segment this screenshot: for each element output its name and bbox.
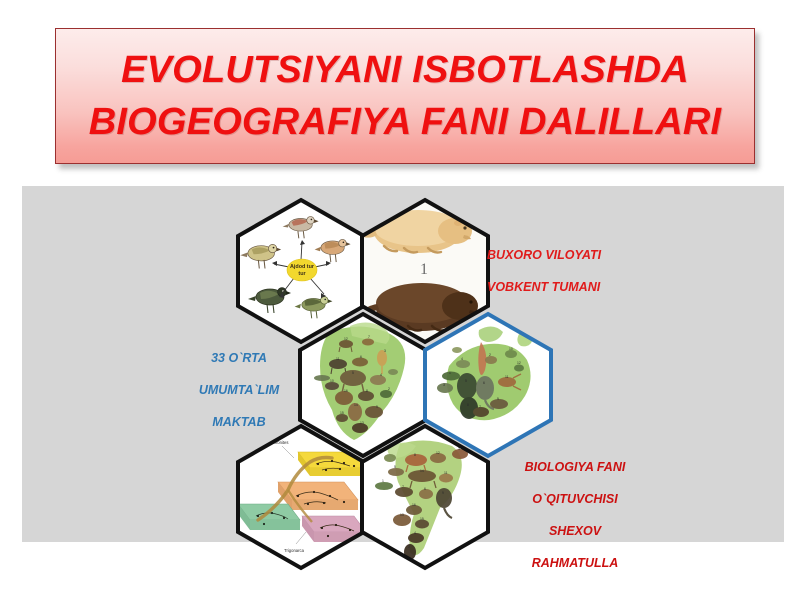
svg-text:8: 8 — [467, 403, 469, 407]
svg-text:2: 2 — [489, 353, 491, 357]
label-region-line1: BUXORO VILOYATI — [487, 247, 601, 263]
label-teacher-line3: SHEXOV — [495, 523, 655, 539]
svg-text:13: 13 — [400, 513, 404, 517]
svg-text:12: 12 — [436, 451, 440, 455]
south-america-map-illustration: 81214 5117 6916 13154 213 — [360, 424, 490, 570]
svg-text:3: 3 — [384, 349, 386, 353]
slide-title-banner: EVOLUTSIYANI ISBOTLASHDA BIOGEOGRAFIYA F… — [55, 28, 755, 164]
strata-label-bottom: Trigonarca — [284, 548, 305, 553]
svg-text:12: 12 — [517, 361, 521, 365]
svg-text:11: 11 — [444, 471, 448, 475]
ancestor-label-line2: tur — [298, 271, 306, 277]
svg-text:5: 5 — [352, 371, 354, 375]
svg-text:8: 8 — [366, 389, 368, 393]
label-teacher-line1: BIOLOGIYA FANI — [495, 459, 655, 475]
svg-text:7: 7 — [479, 405, 481, 409]
svg-text:11: 11 — [505, 375, 509, 379]
svg-text:9: 9 — [376, 405, 378, 409]
label-school-line1: 33 O`RTA — [168, 350, 310, 366]
svg-text:8: 8 — [414, 453, 416, 457]
svg-text:15: 15 — [340, 411, 344, 415]
svg-text:11: 11 — [336, 357, 340, 361]
label-school-line3: MAKTAB — [168, 414, 310, 430]
ancestor-badge — [287, 259, 317, 281]
svg-text:4: 4 — [461, 357, 463, 361]
svg-text:1: 1 — [382, 479, 384, 483]
svg-text:16: 16 — [412, 503, 416, 507]
label-teacher-line4: RAHMATULLA — [495, 555, 655, 571]
svg-text:1: 1 — [449, 371, 451, 375]
svg-text:2: 2 — [388, 387, 390, 391]
title-line-2: BIOGEOGRAFIYA FANI DALILLARI — [89, 96, 722, 148]
hexagon-south-america-fauna: 81214 5117 6916 13154 213 — [360, 424, 490, 570]
ancestor-label-line1: Ajdod tur — [290, 264, 315, 270]
svg-text:14: 14 — [420, 469, 424, 473]
svg-text:5: 5 — [394, 465, 396, 469]
svg-text:7: 7 — [402, 485, 404, 489]
svg-text:7: 7 — [368, 335, 370, 339]
label-teacher-line2: O`QITUVCHISI — [495, 491, 655, 507]
svg-text:6: 6 — [360, 355, 362, 359]
svg-text:6: 6 — [424, 487, 426, 491]
svg-text:16: 16 — [344, 389, 348, 393]
svg-text:4: 4 — [380, 373, 382, 377]
label-region-line2: VOBKENT TUMANI — [487, 279, 601, 295]
label-school-line2: UMUMTA`LIM — [168, 382, 310, 398]
svg-text:10: 10 — [509, 347, 513, 351]
svg-text:5: 5 — [465, 379, 467, 383]
svg-text:9: 9 — [442, 491, 444, 495]
svg-text:15: 15 — [420, 517, 424, 521]
mole-rat-index-label: 1 — [420, 261, 428, 278]
title-line-1: EVOLUTSIYANI ISBOTLASHDA — [121, 44, 689, 96]
svg-text:3: 3 — [443, 383, 445, 387]
svg-text:2: 2 — [408, 545, 410, 549]
label-teacher: BIOLOGIYA FANI O`QITUVCHISI SHEXOV RAHMA… — [495, 443, 655, 587]
label-region: BUXORO VILOYATI VOBKENT TUMANI — [487, 231, 601, 311]
label-school: 33 O`RTA UMUMTA`LIM MAKTAB — [168, 334, 310, 446]
svg-text:14: 14 — [354, 403, 358, 407]
svg-text:9: 9 — [497, 397, 499, 401]
svg-text:10: 10 — [330, 379, 334, 383]
svg-text:6: 6 — [483, 381, 485, 385]
svg-text:4: 4 — [414, 531, 416, 535]
svg-text:12: 12 — [344, 337, 348, 341]
